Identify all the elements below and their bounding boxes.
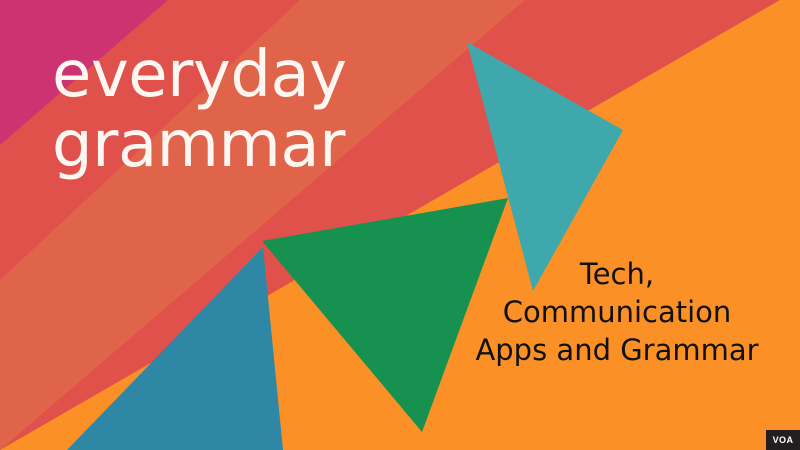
slide-canvas: everyday grammar Tech, Communication App… [0, 0, 800, 450]
background-graphic [0, 0, 800, 450]
subtitle-line-1: Tech, [452, 255, 782, 293]
voa-watermark-label: VOA [773, 435, 794, 445]
voa-watermark-logo: VOA [766, 430, 800, 450]
slide-subtitle: Tech, Communication Apps and Grammar [452, 255, 782, 369]
subtitle-line-2: Communication [452, 293, 782, 331]
subtitle-line-3: Apps and Grammar [452, 331, 782, 369]
